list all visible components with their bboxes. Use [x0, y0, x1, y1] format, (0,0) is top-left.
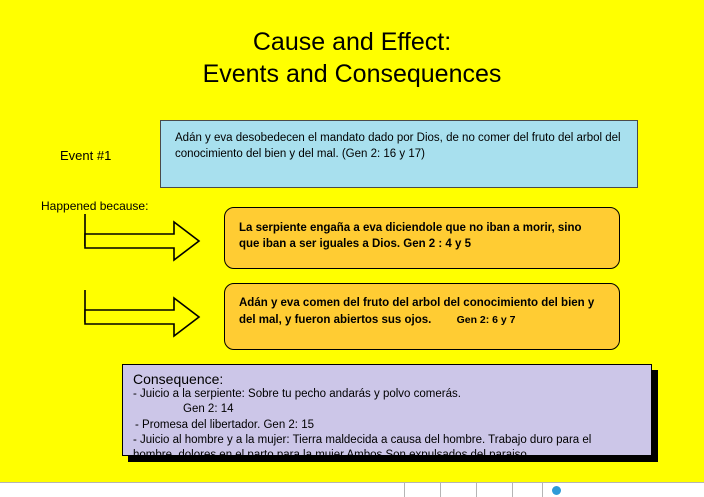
- serpent-box-line-2: que iban a ser iguales a Dios. Gen 2 : 4…: [239, 236, 609, 252]
- status-cell-2: [404, 483, 441, 497]
- consequence-heading: Consequence:: [133, 372, 223, 387]
- status-cell-1: [0, 483, 405, 497]
- status-cell-5: [512, 483, 543, 497]
- consequence-box: Consequence: - Juicio a la serpiente: So…: [122, 364, 652, 456]
- eat-box-line-2: del mal, y fueron abiertos sus ojos. Gen…: [239, 312, 609, 329]
- event-box: Adán y eva desobedecen el mandato dado p…: [160, 120, 638, 188]
- happened-because-label: Happened because:: [41, 199, 148, 213]
- consequence-line-5: hombre, dolores en el parto para la muje…: [133, 448, 643, 463]
- eat-box-line-2-text: del mal, y fueron abiertos sus ojos.: [239, 314, 431, 326]
- elbow-arrow-right-2: [82, 288, 202, 340]
- eat-box-line-1: Adán y eva comen del fruto del arbol del…: [239, 295, 609, 312]
- event-label: Event #1: [60, 148, 111, 163]
- consequence-line-4: - Juicio al hombre y a la mujer: Tierra …: [133, 433, 643, 448]
- slide-canvas: Cause and Effect: Events and Consequence…: [0, 0, 704, 482]
- status-dot-icon: [552, 486, 561, 495]
- elbow-arrow-right-1: [82, 212, 202, 264]
- serpent-box-line-1: La serpiente engaña a eva diciendole que…: [239, 220, 609, 236]
- status-cell-4: [476, 483, 513, 497]
- status-cell-3: [440, 483, 477, 497]
- consequence-line-3: - Promesa del libertador. Gen 2: 15: [135, 418, 643, 433]
- consequence-line-1: - Juicio a la serpiente: Sobre tu pecho …: [133, 387, 553, 402]
- eat-box-reference: Gen 2: 6 y 7: [435, 314, 516, 326]
- consequence-lines: - Juicio a la serpiente: Sobre tu pecho …: [133, 387, 553, 417]
- status-bar: [0, 482, 704, 497]
- title-line-1: Cause and Effect:: [253, 28, 451, 56]
- serpent-box: La serpiente engaña a eva diciendole que…: [224, 207, 620, 269]
- eat-fruit-box: Adán y eva comen del fruto del arbol del…: [224, 283, 620, 350]
- page-title: Cause and Effect: Events and Consequence…: [0, 26, 704, 90]
- event-box-text: Adán y eva desobedecen el mandato dado p…: [175, 132, 621, 160]
- title-line-2: Events and Consequences: [0, 58, 704, 90]
- consequence-line-2: Gen 2: 14: [133, 402, 553, 417]
